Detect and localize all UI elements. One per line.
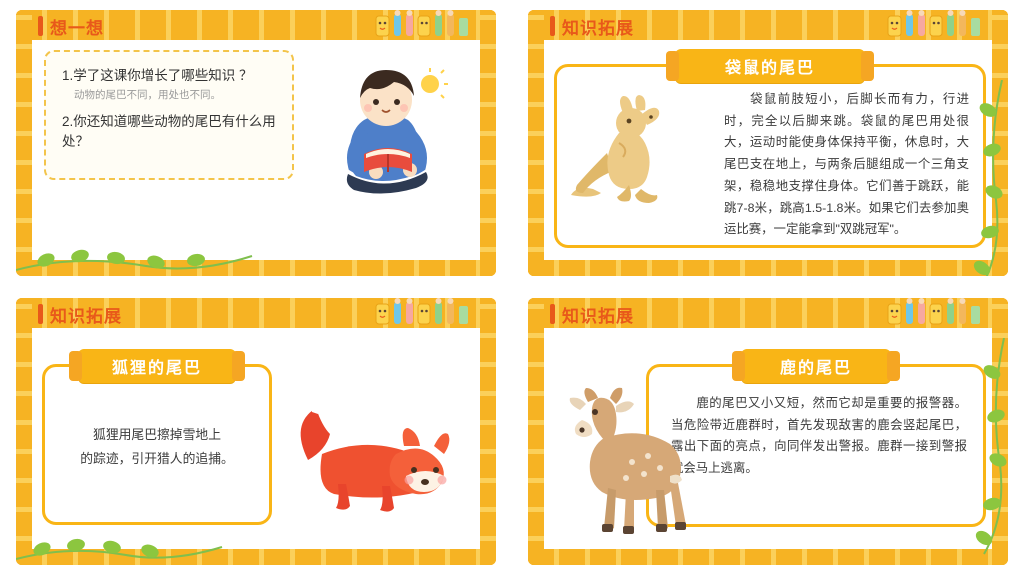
banner-title: 狐狸的尾巴	[78, 349, 236, 383]
kid-stickers-group	[886, 10, 982, 40]
title-accent-bar	[550, 16, 555, 36]
children-decoration-icon	[374, 298, 470, 328]
slide-deer: 知识拓展	[512, 288, 1024, 577]
children-decoration-icon	[886, 10, 982, 40]
frame-right-border	[480, 10, 496, 276]
boy-reading-book-illustration	[312, 62, 462, 207]
frame-bottom-border	[528, 549, 1008, 565]
page-title: 知识拓展	[562, 14, 634, 39]
banner-title: 袋鼠的尾巴	[675, 49, 865, 83]
slide-fox: 知识拓展	[0, 288, 512, 577]
frame-right-border	[992, 10, 1008, 276]
page-title: 想一想	[50, 14, 104, 39]
frame-left-border	[16, 298, 32, 565]
children-decoration-icon	[374, 10, 470, 40]
children-decoration-icon	[886, 298, 982, 328]
kangaroo-paragraph: 袋鼠前肢短小，后脚长而有力，行进时，完全以后脚来跳。袋鼠的尾巴用处很大，运动时能…	[724, 89, 969, 241]
question-2: 2.你还知道哪些动物的尾巴有什么用处？	[62, 112, 278, 153]
content-card: 袋鼠前肢短小，后脚长而有力，行进时，完全以后脚来跳。袋鼠的尾巴用处很大，运动时能…	[554, 64, 986, 248]
fox-paragraph: 狐狸用尾巴擦掉雪地上的踪迹，引开猎人的追捕。	[61, 423, 253, 472]
slide-frame: 想一想	[16, 10, 496, 276]
frame-left-border	[528, 10, 544, 276]
title-accent-bar	[38, 16, 43, 36]
frame-left-border	[16, 10, 32, 276]
deer-illustration	[548, 376, 708, 536]
page-title: 知识拓展	[562, 302, 634, 327]
slide-frame: 知识拓展	[528, 10, 1008, 276]
banner-title: 鹿的尾巴	[741, 349, 891, 383]
kid-stickers-group	[374, 10, 470, 40]
frame-bottom-border	[528, 260, 1008, 276]
question-1: 1.学了这课你增长了哪些知识 ？	[62, 66, 278, 86]
frame-right-border	[480, 298, 496, 565]
fox-illustration	[278, 394, 468, 524]
content-card: 狐狸用尾巴擦掉雪地上的踪迹，引开猎人的追捕。 狐狸的尾巴	[42, 364, 272, 525]
slide-kangaroo: 知识拓展	[512, 0, 1024, 288]
frame-bottom-border	[16, 549, 496, 565]
title-accent-bar	[550, 304, 555, 324]
question-box: 1.学了这课你增长了哪些知识 ？ 动物的尾巴不同，用处也不同。 2.你还知道哪些…	[44, 50, 294, 180]
title-accent-bar	[38, 304, 43, 324]
slide-deck: 想一想	[0, 0, 1024, 577]
slide-think: 想一想	[0, 0, 512, 288]
frame-bottom-border	[16, 260, 496, 276]
question-1-answer: 动物的尾巴不同，用处也不同。	[74, 88, 278, 104]
slide-frame: 知识拓展	[16, 298, 496, 565]
kangaroo-illustration	[563, 93, 708, 213]
kid-stickers-group	[374, 298, 470, 328]
page-title: 知识拓展	[50, 302, 122, 327]
slide-frame: 知识拓展	[528, 298, 1008, 565]
frame-right-border	[992, 298, 1008, 565]
kid-stickers-group	[886, 298, 982, 328]
deer-paragraph: 鹿的尾巴又小又短，然而它却是重要的报警器。当危险带近鹿群时，首先发现敌害的鹿会竖…	[671, 393, 967, 480]
frame-left-border	[528, 298, 544, 565]
